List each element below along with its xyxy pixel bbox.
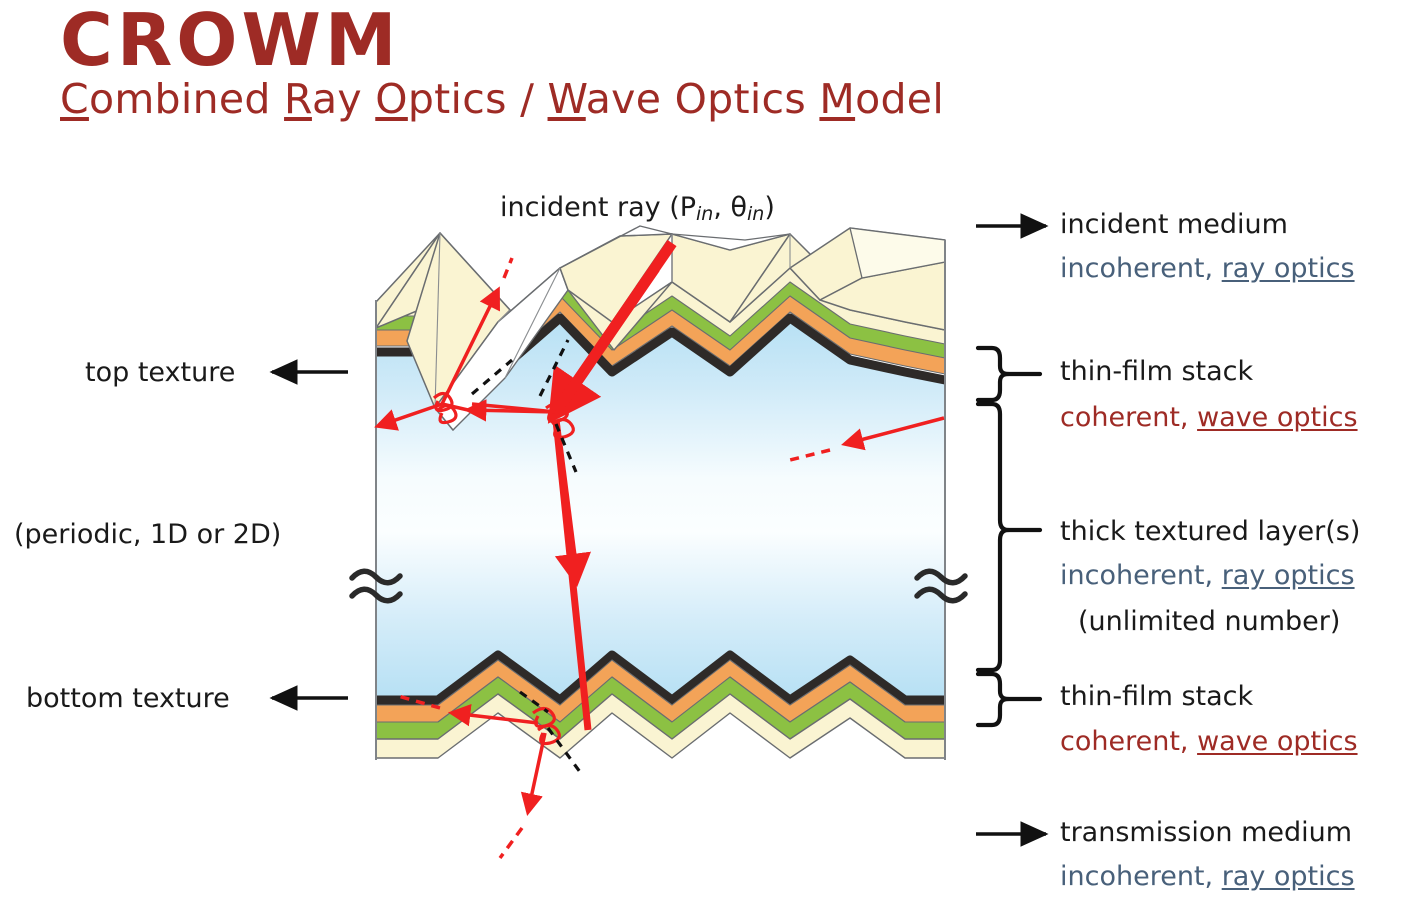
label-thick-layers-title: thick textured layer(s): [1060, 516, 1360, 547]
escaping-ray-dashed: [504, 258, 512, 278]
left-connectors: [272, 372, 348, 698]
brace-top-thin-film: [978, 348, 1040, 400]
brace-thick-layers: [978, 404, 1040, 670]
diagram-canvas: [0, 0, 1406, 910]
label-bottom-texture: bottom texture: [26, 683, 230, 714]
brace-bottom-thin-film: [978, 674, 1040, 725]
label-transmission-medium-title: transmission medium: [1060, 817, 1352, 848]
bottom-transmitted-dashed: [500, 828, 522, 858]
label-thick-layers-detail: incoherent, ray optics: [1060, 560, 1355, 591]
label-bottom-thin-film-detail: coherent, wave optics: [1060, 726, 1358, 757]
label-bottom-thin-film-title: thin-film stack: [1060, 681, 1253, 712]
label-incident-medium-detail: incoherent, ray optics: [1060, 253, 1355, 284]
label-top-thin-film-title: thin-film stack: [1060, 356, 1253, 387]
label-incident-medium-title: incident medium: [1060, 209, 1288, 240]
label-top-texture: top texture: [85, 357, 235, 388]
label-thick-layers-note: (unlimited number): [1078, 606, 1340, 637]
label-transmission-medium-detail: incoherent, ray optics: [1060, 861, 1355, 892]
right-connectors: [976, 226, 1046, 834]
label-periodicity: (periodic, 1D or 2D): [14, 519, 281, 550]
incident-ray-caption: incident ray (Pin, θin): [500, 192, 775, 225]
label-top-thin-film-detail: coherent, wave optics: [1060, 402, 1358, 433]
bottom-transmitted-ray: [528, 733, 545, 812]
